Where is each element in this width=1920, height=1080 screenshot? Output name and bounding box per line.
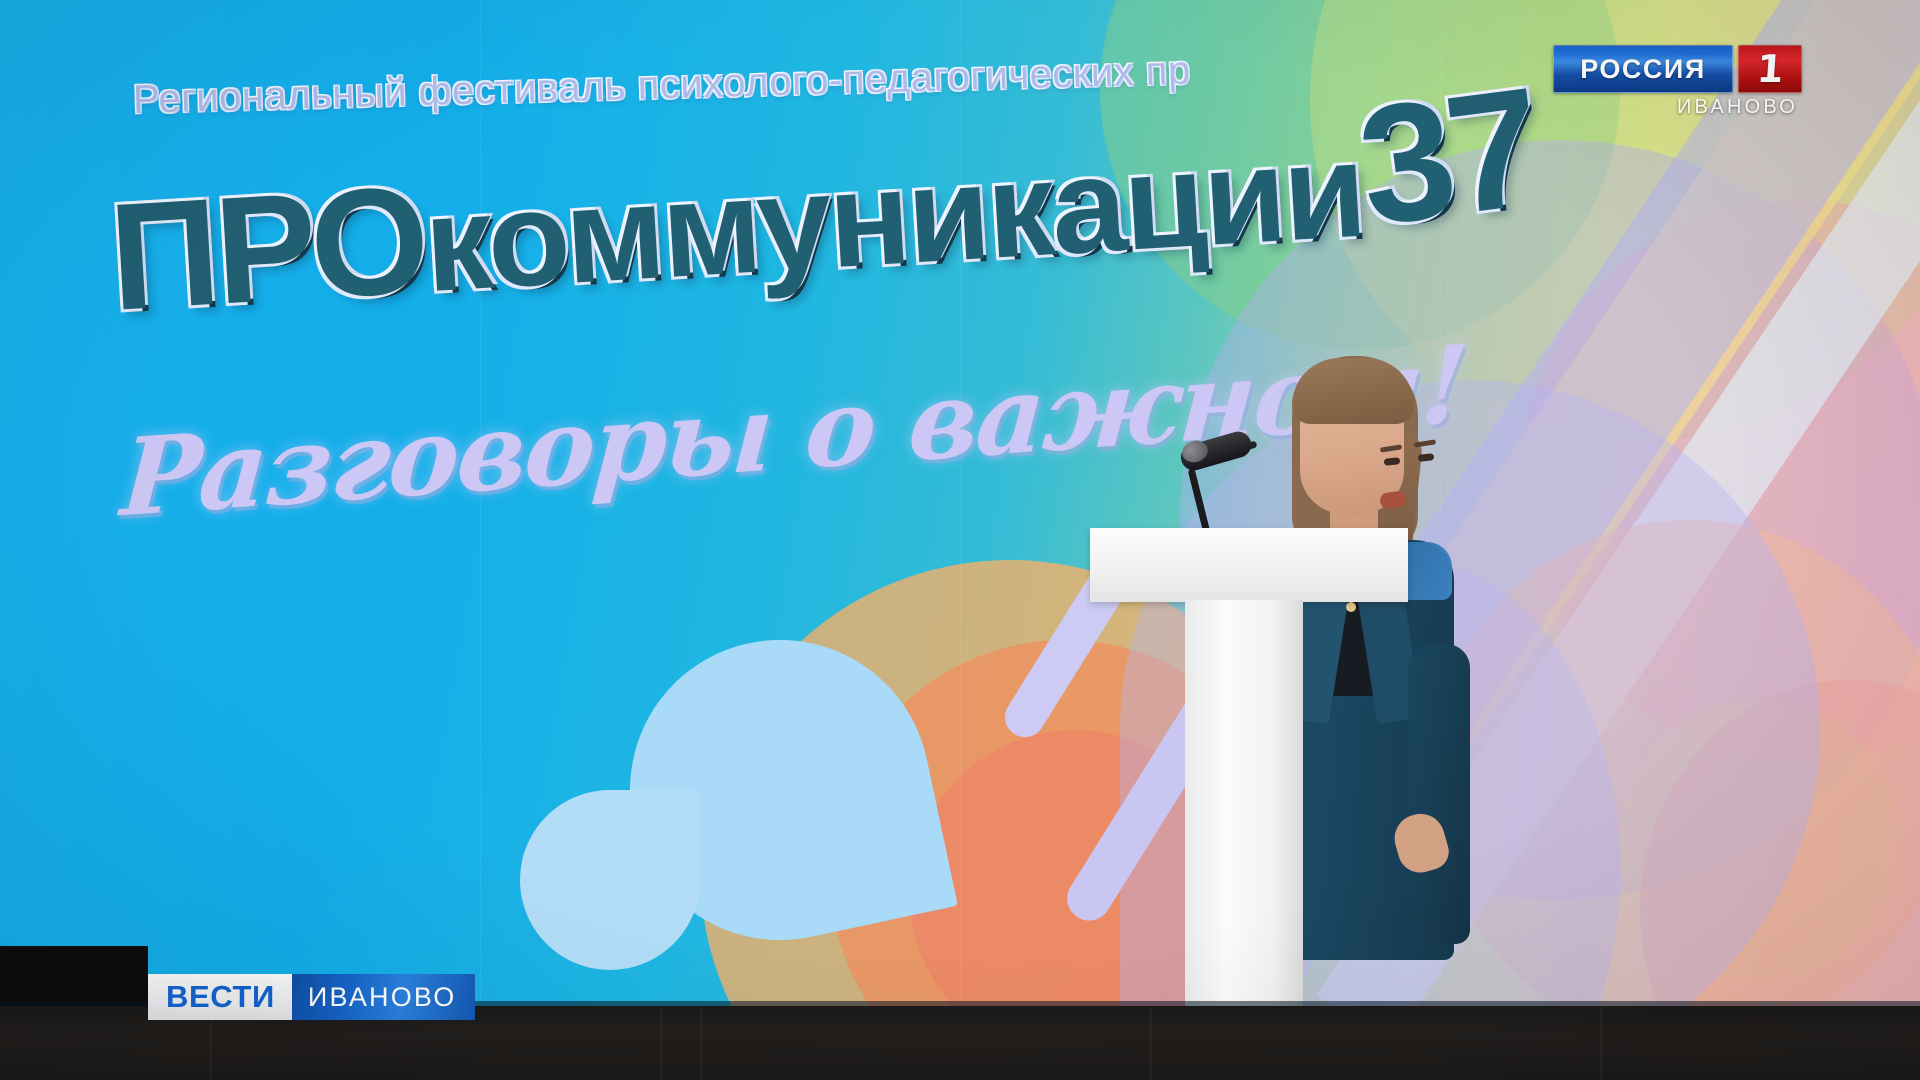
channel-number-badge: 1	[1738, 45, 1802, 93]
lower-third-region: ИВАНОВО	[292, 974, 476, 1020]
channel-number-label: 1	[1755, 50, 1784, 88]
speaker-hair-top	[1292, 358, 1414, 424]
decorative-blob-peach	[1430, 520, 1920, 1006]
decorative-speech-bubble-large	[602, 612, 958, 968]
lower-third-region-label: ИВАНОВО	[308, 982, 457, 1013]
decorative-blob-rose	[1640, 680, 1920, 1006]
podium-top	[1090, 528, 1408, 602]
decorative-blob-green	[1620, 700, 1900, 980]
headline-number: 37	[1350, 62, 1545, 251]
festival-subtitle: Региональный фестиваль психолого-педагог…	[132, 48, 1191, 123]
channel-network-badge: РОССИЯ	[1553, 45, 1733, 93]
speaker-eye-right	[1418, 453, 1435, 462]
channel-network-label: РОССИЯ	[1580, 54, 1705, 85]
speaker-eyebrow-left	[1380, 444, 1403, 452]
speaker-eye-left	[1384, 457, 1401, 466]
channel-city-label: ИВАНОВО	[1553, 96, 1802, 119]
lower-third-program-label: ВЕСТИ	[166, 979, 275, 1015]
decorative-speech-bubble-small	[520, 790, 700, 970]
broadcast-frame: Региональный фестиваль психолого-педагог…	[0, 0, 1920, 1080]
headline-word: коммуникации	[421, 114, 1368, 320]
speaker-arm	[1408, 644, 1470, 944]
lower-third-banner: ВЕСТИ ИВАНОВО	[148, 974, 475, 1020]
decorative-circle-pink	[1520, 200, 1920, 760]
festival-headline: ПРОкоммуникации37	[105, 83, 1542, 335]
lower-third-program: ВЕСТИ	[148, 974, 292, 1020]
channel-logo: РОССИЯ 1 ИВАНОВО	[1553, 45, 1802, 119]
led-backdrop-screen: Региональный фестиваль психолого-педагог…	[0, 0, 1920, 1006]
headline-prefix: ПРО	[105, 154, 429, 342]
screen-left-edge	[0, 946, 148, 1006]
speaker-necklace-pendant	[1346, 602, 1356, 612]
podium-column	[1185, 600, 1303, 1052]
